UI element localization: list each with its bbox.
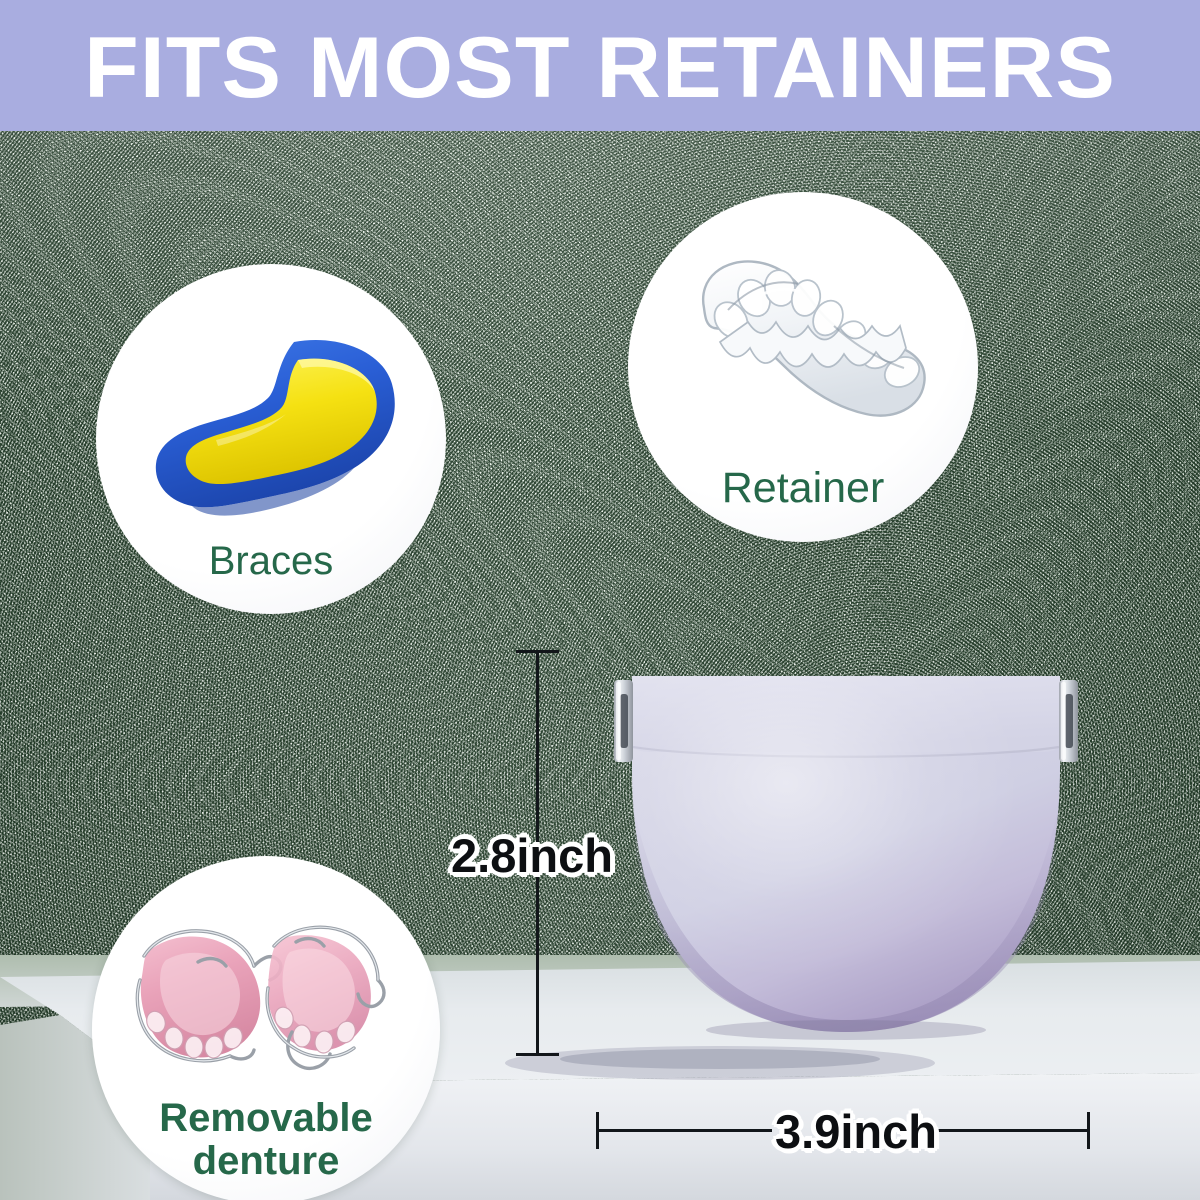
case-hinge-left [614,680,633,762]
width-dimension-cap-right [1087,1112,1090,1149]
banner-title: FITS MOST RETAINERS [84,25,1116,111]
denture-right [267,927,384,1068]
retainer-case-product [596,648,1096,1060]
callout-retainer: Retainer [628,192,978,542]
product-image-stage: Braces [0,0,1200,1200]
callout-braces: Braces [96,264,446,614]
header-banner: FITS MOST RETAINERS [0,0,1200,131]
height-dimension-cap-top [516,650,559,653]
callout-denture-label: Removable denture [92,1097,440,1182]
height-dimension-cap-bottom [516,1053,559,1056]
denture-left [137,931,280,1061]
case-hinge-right [1059,680,1078,762]
callout-denture: Removable denture [92,856,440,1200]
width-dimension-cap-left [596,1112,599,1149]
case-contact-shadow [706,1020,986,1040]
width-dimension-label: 3.9inch [775,1104,937,1159]
callout-retainer-label: Retainer [628,466,978,512]
callout-braces-label: Braces [96,540,446,582]
width-dimension-line-left [597,1129,772,1132]
width-dimension-line-right [930,1129,1090,1132]
case-highlight [632,676,1060,1032]
height-dimension-label: 2.8inch [451,828,613,883]
